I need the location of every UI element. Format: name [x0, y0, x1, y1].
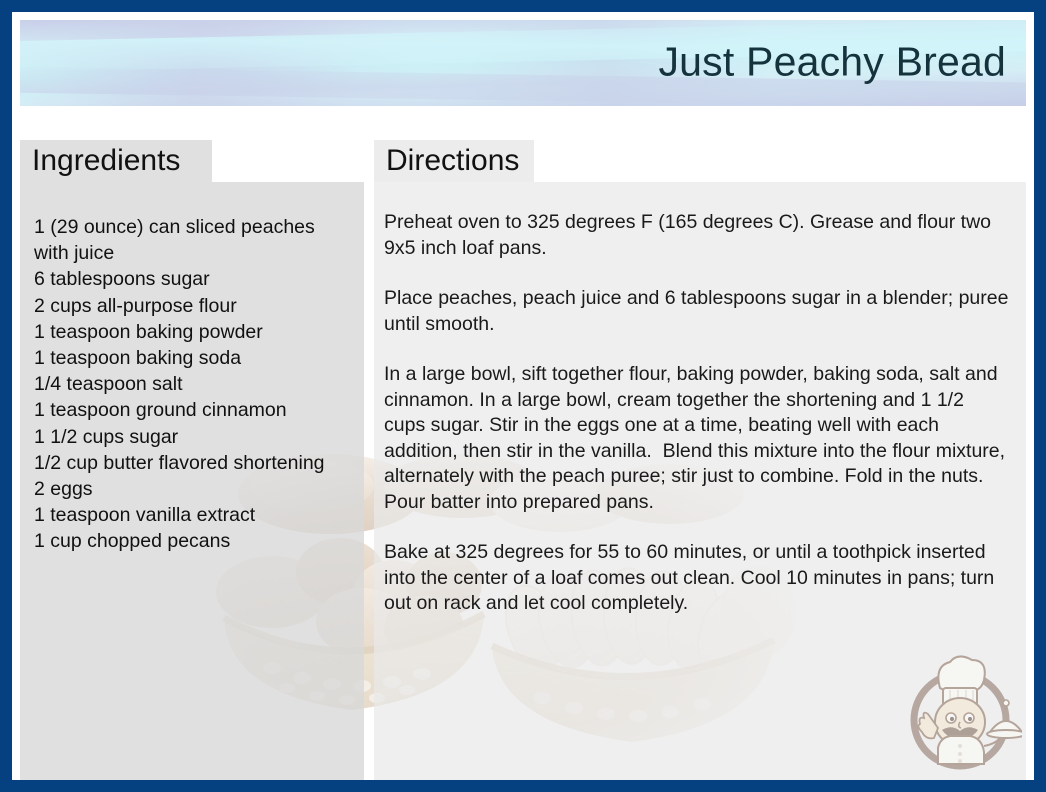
- direction-paragraph: Bake at 325 degrees for 55 to 60 minutes…: [384, 540, 1010, 617]
- direction-paragraph: In a large bowl, sift together flour, ba…: [384, 362, 1010, 515]
- chef-mascot-logo: [898, 648, 1022, 772]
- list-item: 1 teaspoon baking soda: [34, 345, 354, 371]
- list-item: 1 (29 ounce) can sliced peaches: [34, 214, 354, 240]
- list-item: 1 teaspoon baking powder: [34, 319, 354, 345]
- direction-paragraph: Preheat oven to 325 degrees F (165 degre…: [384, 210, 1010, 261]
- list-item: 2 eggs: [34, 476, 354, 502]
- list-item: 1/4 teaspoon salt: [34, 371, 354, 397]
- list-item: 6 tablespoons sugar: [34, 266, 354, 292]
- directions-list: Preheat oven to 325 degrees F (165 degre…: [384, 210, 1010, 617]
- ingredients-panel: Ingredients 1 (29 ounce) can sliced peac…: [20, 140, 364, 780]
- list-item: 1 1/2 cups sugar: [34, 424, 354, 450]
- recipe-slide: Just Peachy Bread: [0, 0, 1046, 792]
- list-item: 1 teaspoon ground cinnamon: [34, 397, 354, 423]
- list-item: with juice: [34, 240, 354, 266]
- direction-paragraph: Place peaches, peach juice and 6 tablesp…: [384, 286, 1010, 337]
- list-item: 1 cup chopped pecans: [34, 528, 354, 554]
- list-item: 2 cups all-purpose flour: [34, 293, 354, 319]
- slide-canvas: Just Peachy Bread: [12, 12, 1034, 780]
- title-banner: Just Peachy Bread: [20, 20, 1026, 106]
- page-title: Just Peachy Bread: [658, 39, 1006, 86]
- list-item: 1/2 cup butter flavored shortening: [34, 450, 354, 476]
- list-item: 1 teaspoon vanilla extract: [34, 502, 354, 528]
- ingredients-body: 1 (29 ounce) can sliced peaches with jui…: [20, 140, 364, 555]
- ingredients-list: 1 (29 ounce) can sliced peaches with jui…: [34, 214, 354, 555]
- directions-body: Preheat oven to 325 degrees F (165 degre…: [374, 140, 1026, 617]
